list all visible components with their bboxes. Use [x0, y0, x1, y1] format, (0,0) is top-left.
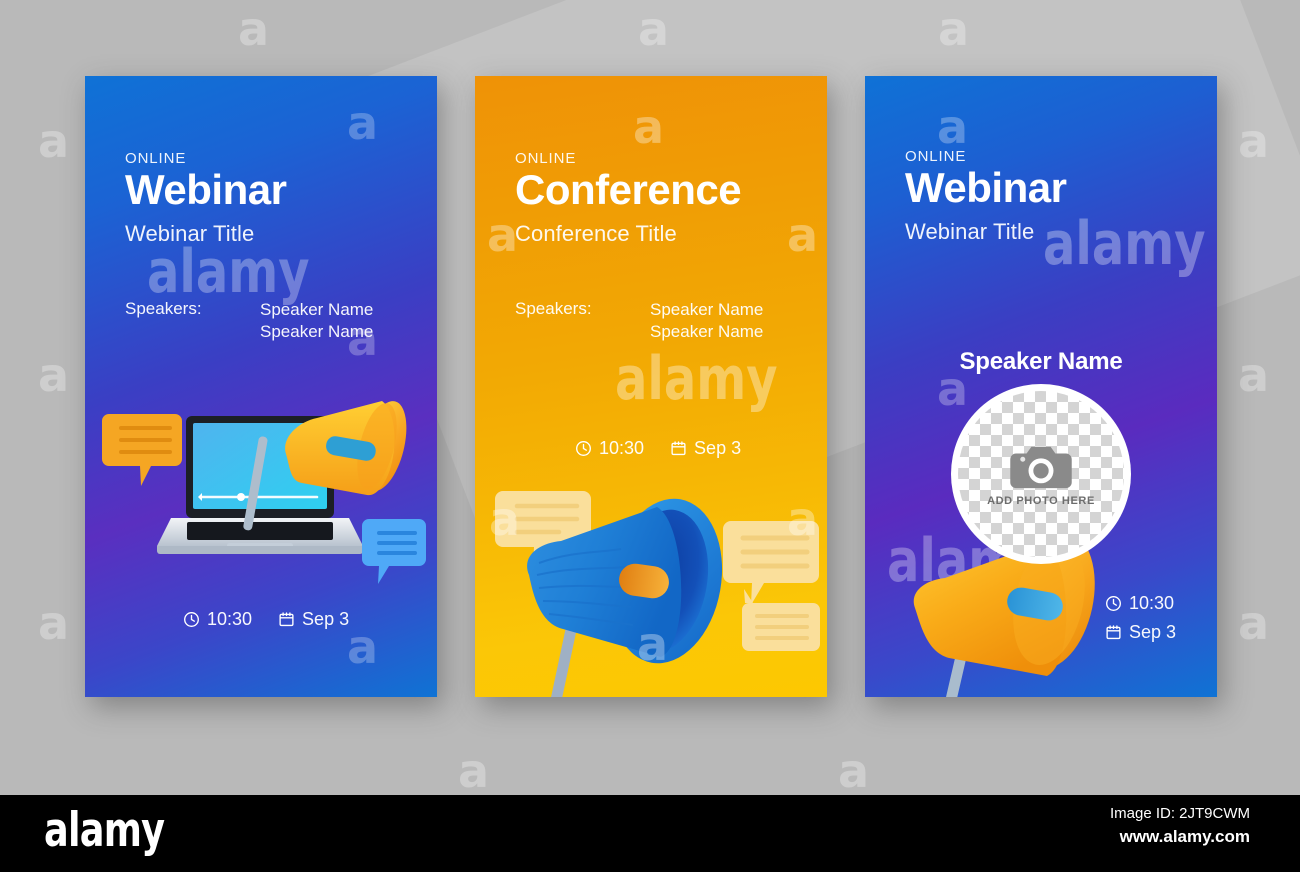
alamy-letter-watermark: a: [347, 624, 378, 670]
card2-speaker-name-1: Speaker Name: [650, 299, 763, 321]
card3-headline: Webinar: [905, 166, 1189, 210]
alamy-watermark: alamy: [147, 242, 310, 302]
card1-speakers-label: Speakers:: [125, 299, 260, 319]
alamy-letter-watermark: a: [347, 100, 378, 146]
alamy-letter-watermark: a: [787, 496, 818, 542]
card1-time-label: 10:30: [207, 609, 252, 630]
card2-time-label: 10:30: [599, 438, 644, 459]
card2-headline: Conference: [515, 168, 799, 212]
card3-meta: 10:30 Sep 3: [1105, 593, 1189, 643]
photo-placeholder[interactable]: ADD PHOTO HERE: [958, 391, 1124, 557]
photo-placeholder-label: ADD PHOTO HERE: [987, 495, 1095, 507]
card3-time-label: 10:30: [1129, 593, 1174, 614]
alamy-letter-watermark: a: [489, 496, 520, 542]
alamy-letter-watermark: a: [487, 212, 518, 258]
alamy-letter-watermark: a: [937, 366, 968, 412]
alamy-letter-watermark: a: [637, 621, 668, 667]
card2-date: Sep 3: [670, 438, 741, 459]
clock-icon: [183, 611, 200, 628]
card3-date: Sep 3: [1105, 622, 1176, 643]
clock-icon: [575, 440, 592, 457]
card2-date-label: Sep 3: [694, 438, 741, 459]
card1-headline: Webinar: [125, 168, 409, 212]
camera-icon: [1010, 442, 1072, 490]
speech-bubble-orange-icon: [102, 414, 182, 486]
speech-bubble-blue-icon: [362, 519, 426, 584]
poster-card-webinar-speaker[interactable]: alamy alamy ONLINE Webinar Webinar Title…: [865, 76, 1217, 697]
card2-meta: 10:30 Sep 3: [575, 438, 799, 459]
card2-speaker-name-2: Speaker Name: [650, 321, 763, 343]
image-id-label: Image ID: 2JT9CWM: [1110, 805, 1250, 822]
card2-speaker-names: Speaker Name Speaker Name: [650, 299, 763, 344]
alamy-footer-bar: alamy Image ID: 2JT9CWM www.alamy.com: [0, 795, 1300, 872]
card2-time: 10:30: [575, 438, 644, 459]
clock-icon: [1105, 595, 1122, 612]
card1-time: 10:30: [183, 609, 252, 630]
card2-speakers-label: Speakers:: [515, 299, 650, 319]
card1-date: Sep 3: [278, 609, 349, 630]
card3-date-label: Sep 3: [1129, 622, 1176, 643]
card3-speaker-name: Speaker Name: [865, 348, 1217, 376]
calendar-icon: [278, 611, 295, 628]
card1-subtitle: Webinar Title: [125, 221, 409, 247]
poster-card-webinar-1[interactable]: alamy ONLINE Webinar Webinar Title Speak…: [85, 76, 437, 697]
card3-time: 10:30: [1105, 593, 1174, 614]
card1-date-label: Sep 3: [302, 609, 349, 630]
alamy-letter-watermark: a: [937, 104, 968, 150]
alamy-watermark: alamy: [615, 349, 778, 409]
card1-kicker: ONLINE: [125, 150, 409, 167]
laptop-with-megaphone-illustration: [101, 391, 431, 611]
calendar-icon: [670, 440, 687, 457]
alamy-letter-watermark: a: [347, 316, 378, 362]
alamy-website-label: www.alamy.com: [1120, 827, 1250, 847]
calendar-icon: [1105, 624, 1122, 641]
poster-card-conference[interactable]: alamy ONLINE Conference Conference Title…: [475, 76, 827, 697]
card2-subtitle: Conference Title: [515, 221, 799, 247]
alamy-letter-watermark: a: [787, 212, 818, 258]
alamy-logo: alamy: [44, 803, 164, 858]
card3-subtitle: Webinar Title: [905, 219, 1189, 245]
poster-set: alamy ONLINE Webinar Webinar Title Speak…: [0, 0, 1300, 795]
alamy-letter-watermark: a: [633, 104, 664, 150]
